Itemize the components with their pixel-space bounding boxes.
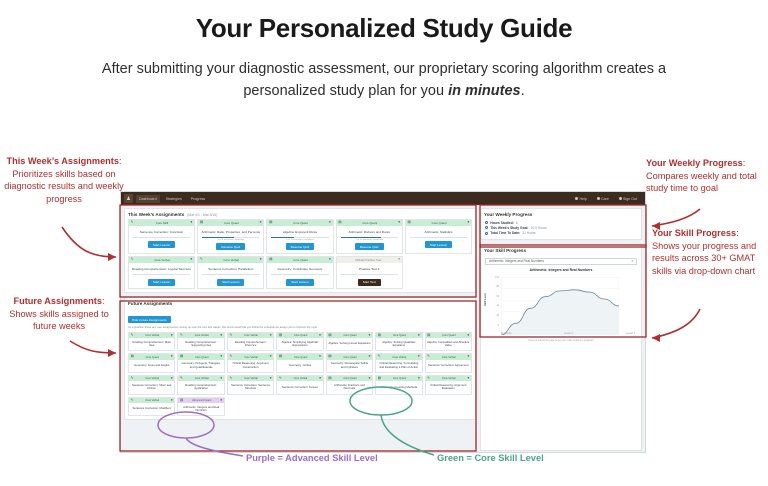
skill-type-icon: ▤ — [131, 355, 134, 359]
assignment-progress: 7 of 10 questions completed — [337, 237, 402, 242]
assignment-card[interactable]: ✎Core Verbal●Critical Reasoning: Formula… — [375, 353, 422, 373]
info-icon[interactable]: ● — [220, 377, 222, 381]
page-subtitle-part-a: After submitting your diagnostic assessm… — [102, 61, 666, 99]
nav-item-sign-out[interactable]: Sign Out — [616, 195, 640, 203]
assignment-card-title: Sentence Correction: Parallelism — [198, 263, 263, 274]
weekly-progress-title: Your Weekly Progress — [481, 209, 641, 219]
assignment-progress — [406, 237, 471, 240]
weekly-progress-row-value: 6 — [516, 221, 518, 225]
info-icon[interactable]: ● — [220, 355, 222, 359]
info-icon[interactable]: ● — [190, 258, 192, 262]
assignment-progress — [198, 274, 263, 277]
progress-label — [133, 275, 190, 276]
info-icon[interactable]: ● — [319, 334, 321, 338]
progress-bar — [133, 274, 190, 275]
assignment-card[interactable]: ▤Core Quant●Geometry: Circles — [276, 353, 323, 373]
nav-item-strategies[interactable]: Strategies — [163, 195, 185, 203]
nav-item-care[interactable]: Care — [594, 195, 612, 203]
skill-type-icon: ▤ — [328, 355, 331, 359]
assignment-progress — [337, 274, 402, 277]
assignment-card-title: Reading Comprehension: Supporting Idea — [178, 338, 223, 350]
skill-type-icon: ▤ — [180, 399, 183, 403]
page-title: Your Personalized Study Guide — [0, 13, 768, 44]
assignment-card-title: Sentence Correction: Idiom and Diction — [129, 381, 174, 393]
assignment-card-level: Core Quant — [432, 221, 447, 225]
assignment-card[interactable]: ▤Core Quant●Algebra: Inequalities and Ab… — [425, 332, 472, 352]
page-subtitle-part-b: . — [521, 83, 525, 99]
assignment-action-button[interactable]: Start Lesson — [148, 241, 175, 248]
assignment-card-title: Arithmetic: Counting Methods — [376, 381, 421, 393]
assignment-card[interactable]: ▤Core Quant●Geometry: Coordinate Geometr… — [266, 256, 333, 289]
skill-type-icon: ✎ — [378, 355, 381, 359]
assignment-progress: 5 of 9 questions completed — [198, 237, 263, 242]
bullet-icon — [485, 226, 488, 229]
assignment-action-button[interactable]: Start Lesson — [425, 241, 452, 248]
assignment-card[interactable]: ✎Core Verbal●Sentence Correction: Senten… — [227, 375, 274, 395]
assignment-card[interactable]: ✎Core Skill●Sentence Correction: Concisi… — [128, 219, 195, 254]
assignment-card-title: Reading Comprehension: Logical Structure — [129, 263, 194, 274]
assignment-card[interactable]: ▤Core Quant●Algebra: Solving Linear Equa… — [326, 332, 373, 352]
care-icon — [597, 197, 600, 200]
info-icon[interactable]: ● — [171, 377, 173, 381]
assignment-progress: 4 of 10 questions completed — [267, 237, 332, 242]
weekly-progress-row-label: Total Time To Date: — [490, 231, 520, 235]
future-assignments-title: Future Assignments — [125, 298, 475, 308]
assignment-card[interactable]: ✎Core Verbal●Critical Reasoning: Argumen… — [425, 375, 472, 395]
assignment-action-button[interactable]: Resume Quiz — [216, 243, 245, 250]
nav-item-dashboard[interactable]: Dashboard — [136, 195, 160, 203]
skill-type-icon: ✎ — [180, 334, 183, 338]
assignment-card-title: Arithmetic: Divisors and Roots — [337, 226, 402, 237]
assignment-card-title: Critical Reasoning: Argument Constructio… — [228, 360, 273, 372]
info-icon[interactable]: ● — [467, 377, 469, 381]
assignment-progress — [129, 237, 194, 240]
future-card-grid: ✎Core Verbal●Reading Comprehension: Main… — [125, 332, 475, 420]
info-icon[interactable]: ● — [270, 355, 272, 359]
info-icon[interactable]: ● — [418, 377, 420, 381]
assignment-card-level: Core Quant — [362, 221, 377, 225]
progress-label — [202, 275, 259, 276]
progress-label: 4 of 10 questions completed — [271, 238, 328, 241]
skill-type-icon: ✎ — [279, 377, 282, 381]
assignment-card[interactable]: ✎Core Verbal●Reading Comprehension: Appl… — [177, 375, 224, 395]
chart-title: Arithmetic: Integers and Real Numbers — [485, 268, 637, 274]
info-icon[interactable]: ● — [171, 399, 173, 403]
assignment-card-level: Core Verbal — [145, 399, 159, 402]
chart-y-ticks: 100806040200 — [489, 277, 499, 335]
assignment-card-level: Core Verbal — [224, 258, 239, 262]
skill-type-icon: ▤ — [378, 334, 381, 338]
skill-progress-title: Your Skill Progress — [481, 245, 641, 255]
nav-item-progress[interactable]: Progress — [188, 195, 208, 203]
assignment-card-level: Core Verbal — [154, 258, 169, 262]
assignment-card-title: Sentence Correction: Concision — [129, 226, 194, 237]
chart-y-tick: 60 — [489, 296, 499, 306]
info-icon[interactable]: ● — [467, 221, 469, 225]
assignment-action-button[interactable]: Start Test — [358, 279, 381, 286]
annotation-future-title: Future Assignments — [13, 296, 101, 306]
weekly-progress-row: Hours Studied:6 — [485, 221, 637, 225]
info-icon[interactable]: ● — [270, 334, 272, 338]
info-icon[interactable]: ● — [190, 221, 192, 225]
legend-advanced-skill: Purple = Advanced Skill Level — [246, 453, 378, 463]
left-column: This Week’s Assignments(Mar 4/1 - Mar 8/… — [124, 208, 476, 451]
assignment-card[interactable]: ▤Core Quant●Algebra: Solving Quadratic E… — [375, 332, 422, 352]
chart-y-tick: 40 — [489, 305, 499, 315]
chart-x-axis-label: Hover to refresh the page to get your ma… — [485, 340, 637, 342]
assignment-card-level: Core Verbal — [195, 334, 209, 337]
skill-type-icon: ✎ — [131, 334, 134, 338]
assignment-card-title: Geometry: Circles — [277, 360, 322, 372]
nav-item-help[interactable]: Help — [572, 195, 590, 203]
info-icon[interactable]: ● — [418, 334, 420, 338]
skill-type-icon: ✎ — [131, 377, 134, 381]
assignment-action-button[interactable]: Start Lesson — [286, 279, 313, 286]
assignment-action-button[interactable]: Start Lesson — [217, 279, 244, 286]
skill-type-icon: ✎ — [131, 399, 134, 403]
assignment-card[interactable]: ✎Core Verbal●Sentence Correction: Parall… — [197, 256, 264, 289]
progress-label: 5 of 9 questions completed — [202, 238, 259, 241]
assignment-card[interactable]: ✎Core Verbal●Reading Comprehension: Supp… — [177, 332, 224, 352]
progress-bar — [341, 274, 398, 275]
info-icon[interactable]: ● — [260, 258, 262, 262]
assignment-card[interactable]: ▤Core Quant●Arithmetic: StatisticsStart … — [405, 219, 472, 254]
annotation-skill-progress: Your Skill Progress: Shows your progress… — [652, 227, 768, 278]
weekly-progress-list: Hours Studied:6This Week’s Study Goal:10… — [481, 219, 641, 240]
assignment-action-button[interactable]: Start Lesson — [148, 279, 175, 286]
assignment-progress — [267, 274, 332, 277]
assignment-card[interactable]: ▤Core Quant●Geometry: Rectangular Solids… — [326, 353, 373, 373]
skill-select-value: Arithmetic: Integers and Real Numbers — [489, 259, 544, 263]
assignment-card-level: Core Verbal — [442, 377, 456, 380]
assignment-card[interactable]: ▤Core Quant●Arithmetic: Divisors and Roo… — [336, 219, 403, 254]
assignment-card[interactable]: ▤Core Quant●Arithmetic: Fractions and De… — [326, 375, 373, 395]
assignment-card-level: Advanced Quant — [192, 399, 211, 402]
info-icon[interactable]: ● — [467, 334, 469, 338]
chart-y-tick: 80 — [489, 286, 499, 296]
skill-type-icon: ▤ — [269, 258, 272, 262]
assignment-card[interactable]: ▤Advanced Quant●Arithmetic: Integers and… — [177, 397, 224, 417]
chevron-down-icon: ▾ — [631, 259, 633, 263]
assignment-card-title: Algebra: Solving Quadratic Equations — [376, 338, 421, 350]
assignment-card-level: Core Verbal — [294, 377, 308, 380]
page-subtitle-emphasis: in minutes — [448, 83, 521, 99]
assignment-card-title: Reading Comprehension: Inference — [228, 338, 273, 350]
assignment-card-level: Core Quant — [343, 377, 356, 380]
assignment-card-title: Sentence Correction: Modifiers — [129, 403, 174, 415]
info-icon[interactable]: ● — [319, 377, 321, 381]
skill-type-icon: ▤ — [378, 377, 381, 381]
assignment-action-button[interactable]: Resume Quiz — [355, 243, 384, 250]
skill-type-icon: ▤ — [328, 334, 331, 338]
progress-bar — [133, 237, 190, 238]
right-column: Your Weekly Progress Hours Studied:6This… — [480, 208, 642, 451]
assignment-card-level: Core Quant — [195, 356, 208, 359]
assignment-card[interactable]: ✎Core Verbal●Reading Comprehension: Infe… — [227, 332, 274, 352]
info-icon[interactable]: ● — [220, 399, 222, 403]
future-assignments-panel: Future Assignments Hide Future Assignmen… — [124, 297, 476, 420]
app-screenshot: ♟ Dashboard Strategies Progress Help Car… — [120, 191, 646, 453]
chart-y-axis-label: Skill Level — [484, 293, 487, 306]
bullet-icon — [485, 221, 488, 224]
skill-type-icon: ▤ — [180, 355, 183, 359]
assignment-card[interactable]: ▤Core Quant●Geometry: Lines and Angles — [128, 353, 175, 373]
progress-bar — [341, 237, 398, 238]
assignment-card-level: Core Verbal — [145, 334, 159, 337]
assignment-card-level: Core Quant — [393, 377, 406, 380]
assignment-card-title: Critical Reasoning: Formulating and Eval… — [376, 360, 421, 372]
progress-bar — [202, 274, 259, 275]
bullet-icon — [485, 232, 488, 235]
info-icon[interactable]: ● — [260, 221, 262, 225]
help-icon — [575, 197, 578, 200]
nav-item-care-label: Care — [601, 197, 609, 201]
skill-type-icon: ✎ — [131, 221, 134, 225]
weekly-progress-row-value: 31 Hours — [522, 231, 535, 235]
hide-future-assignments-button[interactable]: Hide Future Assignments — [128, 316, 171, 324]
app-navbar: ♟ Dashboard Strategies Progress Help Car… — [121, 192, 645, 205]
annotation-weekly-progress: Your Weekly Progress: Compares weekly an… — [646, 157, 768, 195]
assignment-card-title: Algebra: Inequalities and Absolute Value — [426, 338, 471, 350]
skill-type-icon: ✎ — [200, 258, 203, 262]
skill-type-icon: ▤ — [408, 221, 411, 225]
chart-plot-area — [501, 277, 619, 335]
assignment-card-title: Arithmetic: Ratio, Properties, and Perce… — [198, 226, 263, 237]
assignment-card[interactable]: ✎Core Verbal●Reading Comprehension: Logi… — [128, 256, 195, 289]
skill-type-icon: ✎ — [180, 377, 183, 381]
assignment-card-title: Sentence Correction: Tenses — [277, 381, 322, 393]
annotation-this-week: This Week’s Assignments: Prioritizes ski… — [2, 155, 126, 206]
assignment-card[interactable]: ▤Core Quant●Arithmetic: Ratio, Propertie… — [197, 219, 264, 254]
assignment-card-title: Reading Comprehension: Application — [178, 381, 223, 393]
assignment-card[interactable]: ✎Core Verbal●Critical Reasoning: Argumen… — [227, 353, 274, 373]
chart-x-tick: Lesson 1 — [564, 333, 573, 335]
assignment-card-level: Core Quant — [293, 221, 308, 225]
assignment-card-title: Arithmetic: Fractions and Decimals — [327, 381, 372, 393]
weekly-progress-row: This Week’s Study Goal:10.5 Hours — [485, 226, 637, 230]
info-icon[interactable]: ● — [398, 221, 400, 225]
this-weeks-assignments-title: This Week’s Assignments(Mar 4/1 - Mar 8/… — [125, 209, 475, 219]
assignment-card[interactable]: ✎Core Verbal●Sentence Correction: Tenses — [276, 375, 323, 395]
assignment-action-button[interactable]: Resume Quiz — [286, 243, 315, 250]
assignment-card-level: Core Quant — [393, 334, 406, 337]
skill-type-icon: ▤ — [200, 221, 203, 225]
assignment-card-level: Core Quant — [294, 356, 307, 359]
chart-x-ticks: DiagnosticLesson 1Lesson 2 — [501, 333, 635, 335]
assignment-card-title: Geometry: Polygons, Triangles, and Quadr… — [178, 360, 223, 372]
assignment-card[interactable]: ✎Core Verbal●Sentence Correction: Modifi… — [128, 397, 175, 417]
info-icon[interactable]: ● — [398, 258, 400, 262]
progress-label — [133, 238, 190, 239]
info-icon[interactable]: ● — [368, 377, 370, 381]
assignment-card-title: Algebra: Simplifying Algebraic Expressio… — [277, 338, 322, 350]
skill-type-icon: ▤ — [427, 334, 430, 338]
legend-core-skill: Green = Core Skill Level — [437, 453, 544, 463]
progress-bar — [202, 237, 259, 238]
annotation-weekly-progress-title: Your Weekly Progress — [646, 158, 743, 168]
page-subtitle: After submitting your diagnostic assessm… — [0, 58, 768, 103]
chart-x-tick: Diagnostic — [501, 333, 512, 335]
progress-label: 7 of 10 questions completed — [341, 238, 398, 241]
assignment-card-level: Core Verbal — [244, 356, 258, 359]
skill-type-icon: ▤ — [328, 377, 331, 381]
assignment-card-level: Core Quant — [224, 221, 239, 225]
assignment-card-level: Core Quant — [343, 356, 356, 359]
assignment-card-title: Geometry: Lines and Angles — [129, 360, 174, 372]
this-weeks-assignments-heading: This Week’s Assignments — [128, 212, 184, 217]
nav-item-sign-out-label: Sign Out — [623, 197, 637, 201]
skill-type-icon: ✎ — [427, 377, 430, 381]
skill-type-icon: ▤ — [279, 334, 282, 338]
weekly-progress-row-value: 10.5 Hours — [530, 226, 546, 230]
skill-progress-panel: Your Skill Progress Arithmetic: Integers… — [480, 244, 642, 451]
assignment-card[interactable]: Official Practice Test●Practice Test 2St… — [336, 256, 403, 289]
nav-item-help-label: Help — [579, 197, 586, 201]
assignment-card-title: Geometry: Rectangular Solids and Cylinde… — [327, 360, 372, 372]
assignment-card-title: Practice Test 2 — [337, 263, 402, 274]
annotation-this-week-title: This Week’s Assignments — [6, 156, 119, 166]
assignment-card[interactable]: ✎Core Verbal●Reading Comprehension: Main… — [128, 332, 175, 352]
progress-bar — [410, 237, 467, 238]
annotation-skill-progress-title: Your Skill Progress — [652, 228, 736, 238]
assignment-card-level: Core Quant — [146, 356, 159, 359]
assignment-card-level: Core Quant — [343, 334, 356, 337]
info-icon[interactable]: ● — [368, 334, 370, 338]
chart-y-tick: 0 — [489, 325, 499, 335]
progress-label — [271, 275, 328, 276]
progress-label — [410, 238, 467, 239]
chart-y-tick: 100 — [489, 277, 499, 287]
sign-out-icon — [619, 197, 622, 200]
info-icon[interactable]: ● — [368, 355, 370, 359]
assignment-card-title: Algebra: Solving Linear Equations — [327, 338, 372, 350]
skill-type-icon: ✎ — [427, 355, 430, 359]
weekly-progress-row-label: Hours Studied: — [490, 221, 514, 225]
skill-type-icon: ▤ — [279, 355, 282, 359]
assignment-card-level: Core Verbal — [392, 356, 406, 359]
chart-y-tick: 20 — [489, 315, 499, 325]
assignment-card-level: Official Practice Test — [355, 258, 381, 262]
app-logo-icon[interactable]: ♟ — [124, 194, 133, 203]
assignment-card-title: Reading Comprehension: Main Idea — [129, 338, 174, 350]
app-body: This Week’s Assignments(Mar 4/1 - Mar 8/… — [121, 205, 645, 453]
assignment-card[interactable]: ✎Core Verbal●Sentence Correction: Idiom … — [128, 375, 175, 395]
this-week-card-grid: ✎Core Skill●Sentence Correction: Concisi… — [125, 219, 475, 293]
annotation-future: Future Assignments: Shows skills assigne… — [2, 295, 116, 333]
progress-label — [341, 275, 398, 276]
assignment-progress — [129, 274, 194, 277]
assignment-card-title: Sentence Correction: Sentence Structure — [228, 381, 273, 393]
assignment-card-title: Arithmetic: Integers and Real Numbers — [178, 403, 223, 415]
assignment-card-title: Algebra: Exponent Rules — [267, 226, 332, 237]
assignment-card[interactable]: ✎Core Verbal●Sentence Correction: Agreem… — [425, 353, 472, 373]
skill-type-icon: ✎ — [229, 355, 232, 359]
assignment-card[interactable]: ▤Core Quant●Algebra: Simplifying Algebra… — [276, 332, 323, 352]
assignment-card[interactable]: ▤Core Quant●Geometry: Polygons, Triangle… — [177, 353, 224, 373]
skill-type-icon: ✎ — [229, 377, 232, 381]
info-icon[interactable]: ● — [329, 221, 331, 225]
assignment-card-level: Core Verbal — [244, 377, 258, 380]
assignment-card-level: Core Quant — [294, 334, 307, 337]
assignment-card-title: Sentence Correction: Agreement — [426, 360, 471, 372]
assignment-card-level: Core Verbal — [244, 334, 258, 337]
skill-type-icon: ✎ — [131, 258, 134, 262]
progress-bar — [271, 274, 328, 275]
assignment-card-level: Core Verbal — [442, 356, 456, 359]
assignment-card-title: Arithmetic: Statistics — [406, 226, 471, 237]
skill-type-icon: ▤ — [338, 221, 341, 225]
info-icon[interactable]: ● — [171, 355, 173, 359]
this-weeks-assignments-daterange: (Mar 4/1 - Mar 8/15) — [187, 213, 217, 217]
assignment-card-level: Core Verbal — [195, 377, 209, 380]
assignment-card-level: Core Quant — [442, 334, 455, 337]
skill-select-dropdown[interactable]: Arithmetic: Integers and Real Numbers ▾ — [485, 258, 637, 265]
skill-type-icon: ✎ — [229, 334, 232, 338]
info-icon[interactable]: ● — [220, 334, 222, 338]
assignment-card[interactable]: ▤Core Quant●Arithmetic: Counting Methods — [375, 375, 422, 395]
info-icon[interactable]: ● — [319, 355, 321, 359]
chart-x-tick: Lesson 2 — [626, 333, 635, 335]
info-icon[interactable]: ● — [270, 377, 272, 381]
assignment-card-level: Core Skill — [156, 221, 168, 225]
assignment-card-level: Core Quant — [293, 258, 308, 262]
progress-bar — [271, 237, 328, 238]
info-icon[interactable]: ● — [329, 258, 331, 262]
weekly-progress-row-label: This Week’s Study Goal: — [490, 226, 528, 230]
skill-progress-chart: Arithmetic: Integers and Real Numbers Sk… — [485, 268, 637, 342]
this-weeks-assignments-panel: This Week’s Assignments(Mar 4/1 - Mar 8/… — [124, 208, 476, 293]
assignment-card-title: Critical Reasoning: Argument Evaluation — [426, 381, 471, 393]
weekly-progress-panel: Your Weekly Progress Hours Studied:6This… — [480, 208, 642, 240]
weekly-progress-row: Total Time To Date:31 Hours — [485, 231, 637, 235]
assignment-card-title: Geometry: Coordinate Geometry — [267, 263, 332, 274]
info-icon[interactable]: ● — [171, 334, 173, 338]
assignment-card[interactable]: ▤Core Quant●Algebra: Exponent Rules4 of … — [266, 219, 333, 254]
nav-right-group: Help Care Sign Out — [572, 195, 642, 203]
info-icon[interactable]: ● — [467, 355, 469, 359]
assignment-card-level: Core Verbal — [145, 377, 159, 380]
info-icon[interactable]: ● — [418, 355, 420, 359]
skill-type-icon: ▤ — [269, 221, 272, 225]
